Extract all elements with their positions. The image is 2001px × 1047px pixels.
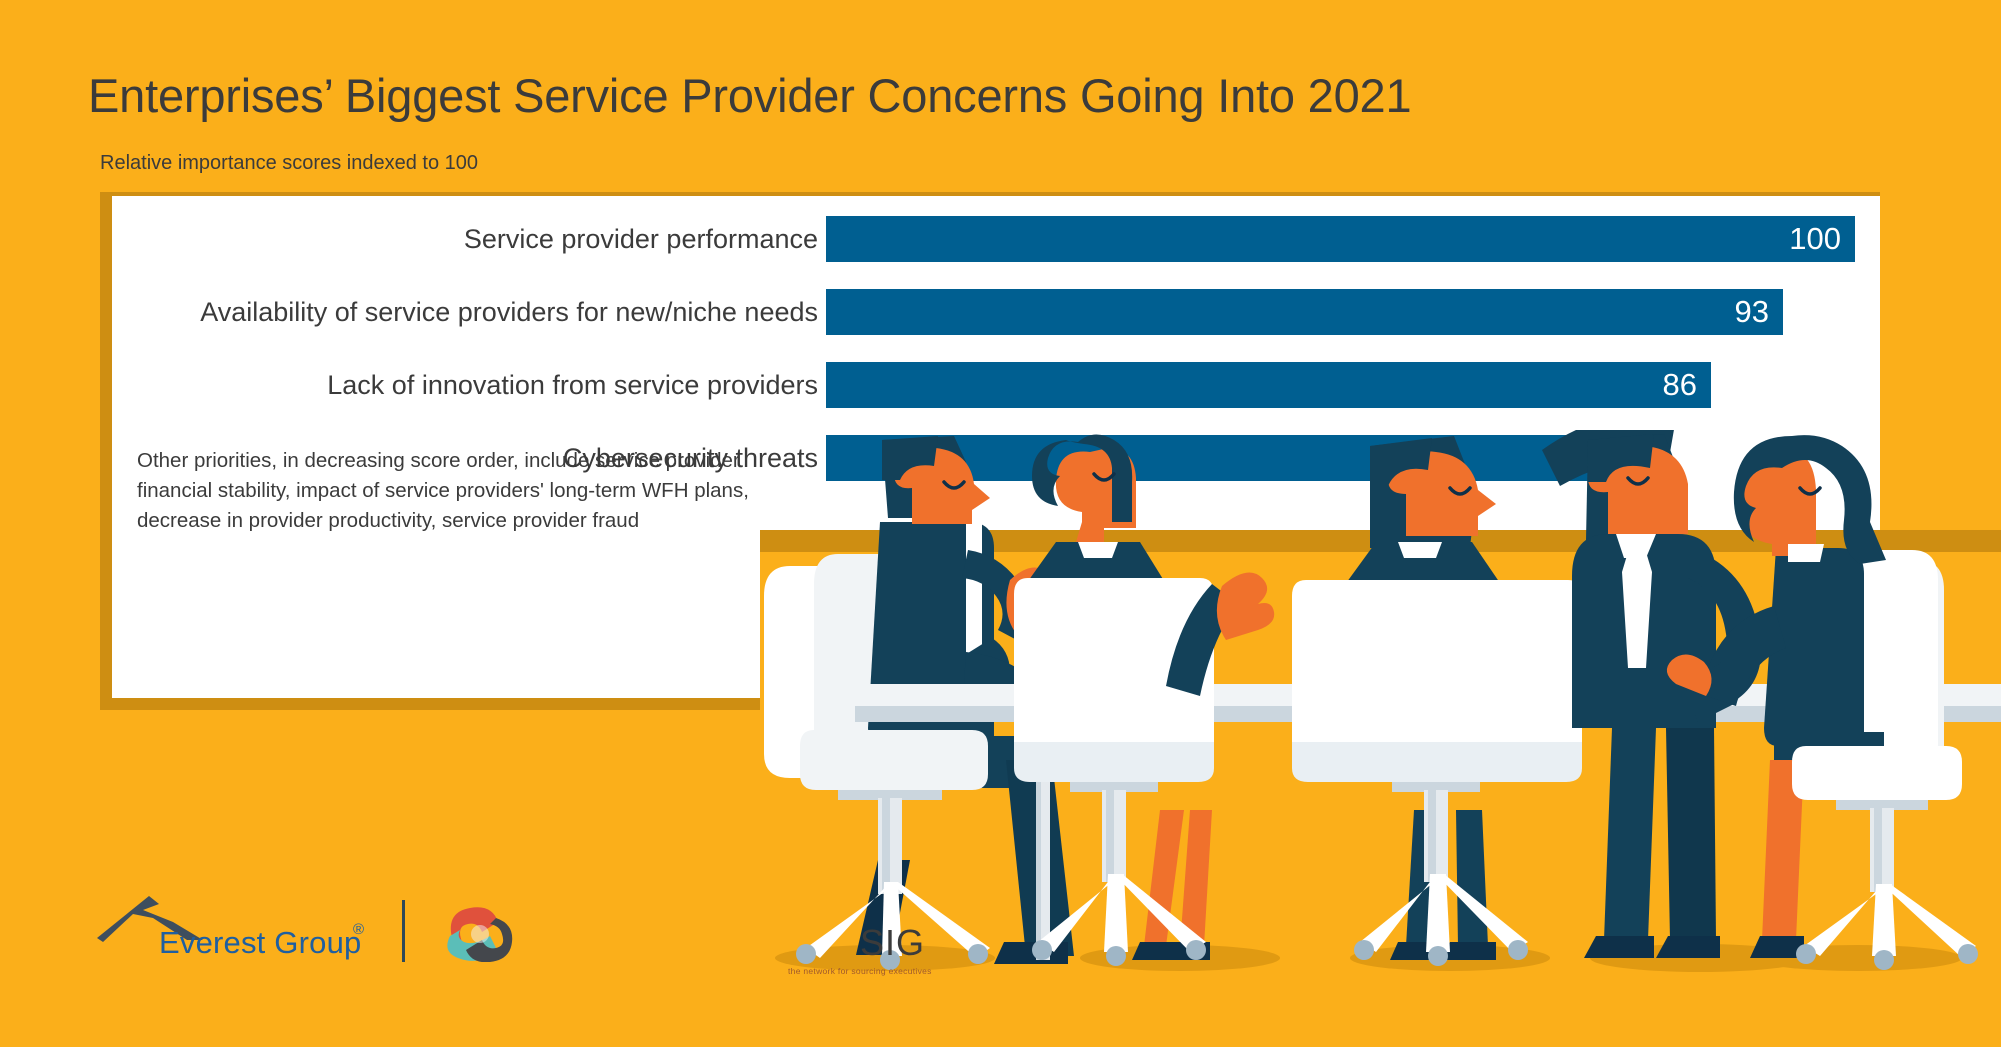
subtitle: Relative importance scores indexed to 10… [100,152,478,175]
sig-tagline: the network for sourcing executives [788,966,932,976]
footer-logos: Everest Group ® SIG the network for sour… [95,888,515,978]
sig-knot-icon [440,904,520,962]
bar-label: Lack of innovation from service provider… [112,362,818,408]
page-title: Enterprises’ Biggest Service Provider Co… [88,68,1411,123]
bar: 86 [826,362,1711,408]
bar: 100 [826,216,1855,262]
logo-divider [402,900,405,962]
bar-value: 86 [1663,362,1697,408]
everest-group-logo: Everest Group ® [95,888,305,968]
bar-value: 93 [1735,289,1769,335]
sig-wordmark: SIG [860,922,925,964]
everest-group-wordmark: Everest Group [159,925,361,961]
bar: 93 [826,289,1783,335]
bar-value: 100 [1789,216,1841,262]
bar-label: Availability of service providers for ne… [112,289,818,335]
infographic-canvas: Enterprises’ Biggest Service Provider Co… [0,0,2001,1047]
bar-label: Service provider performance [112,216,818,262]
registered-trademark-icon: ® [353,921,364,938]
sig-logo: SIG the network for sourcing executives [440,904,600,966]
footnote-text: Other priorities, in decreasing score or… [137,446,757,536]
office-meeting-illustration [760,430,2001,990]
